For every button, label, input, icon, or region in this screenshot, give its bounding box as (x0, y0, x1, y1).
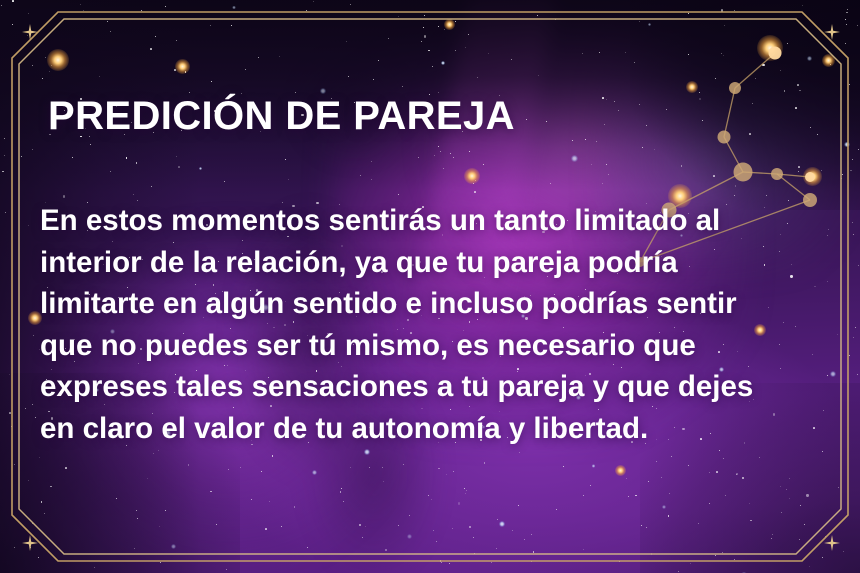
prediction-line: expreses tales sensaciones a tu pareja y… (40, 366, 830, 408)
prediction-line: En estos momentos sentirás un tanto limi… (40, 200, 830, 242)
prediction-line: limitarte en algún sentido e incluso pod… (40, 283, 830, 325)
prediction-poster: PREDICIÓN DE PAREJA En estos momentos se… (0, 0, 860, 573)
prediction-line: en claro el valor de tu autonomía y libe… (40, 408, 830, 450)
prediction-line: que no puedes ser tú mismo, es necesario… (40, 325, 830, 367)
content-area: PREDICIÓN DE PAREJA En estos momentos se… (0, 0, 860, 573)
page-title: PREDICIÓN DE PAREJA (48, 93, 515, 139)
prediction-line: interior de la relación, ya que tu parej… (40, 242, 830, 284)
prediction-body: En estos momentos sentirás un tanto limi… (40, 200, 830, 449)
